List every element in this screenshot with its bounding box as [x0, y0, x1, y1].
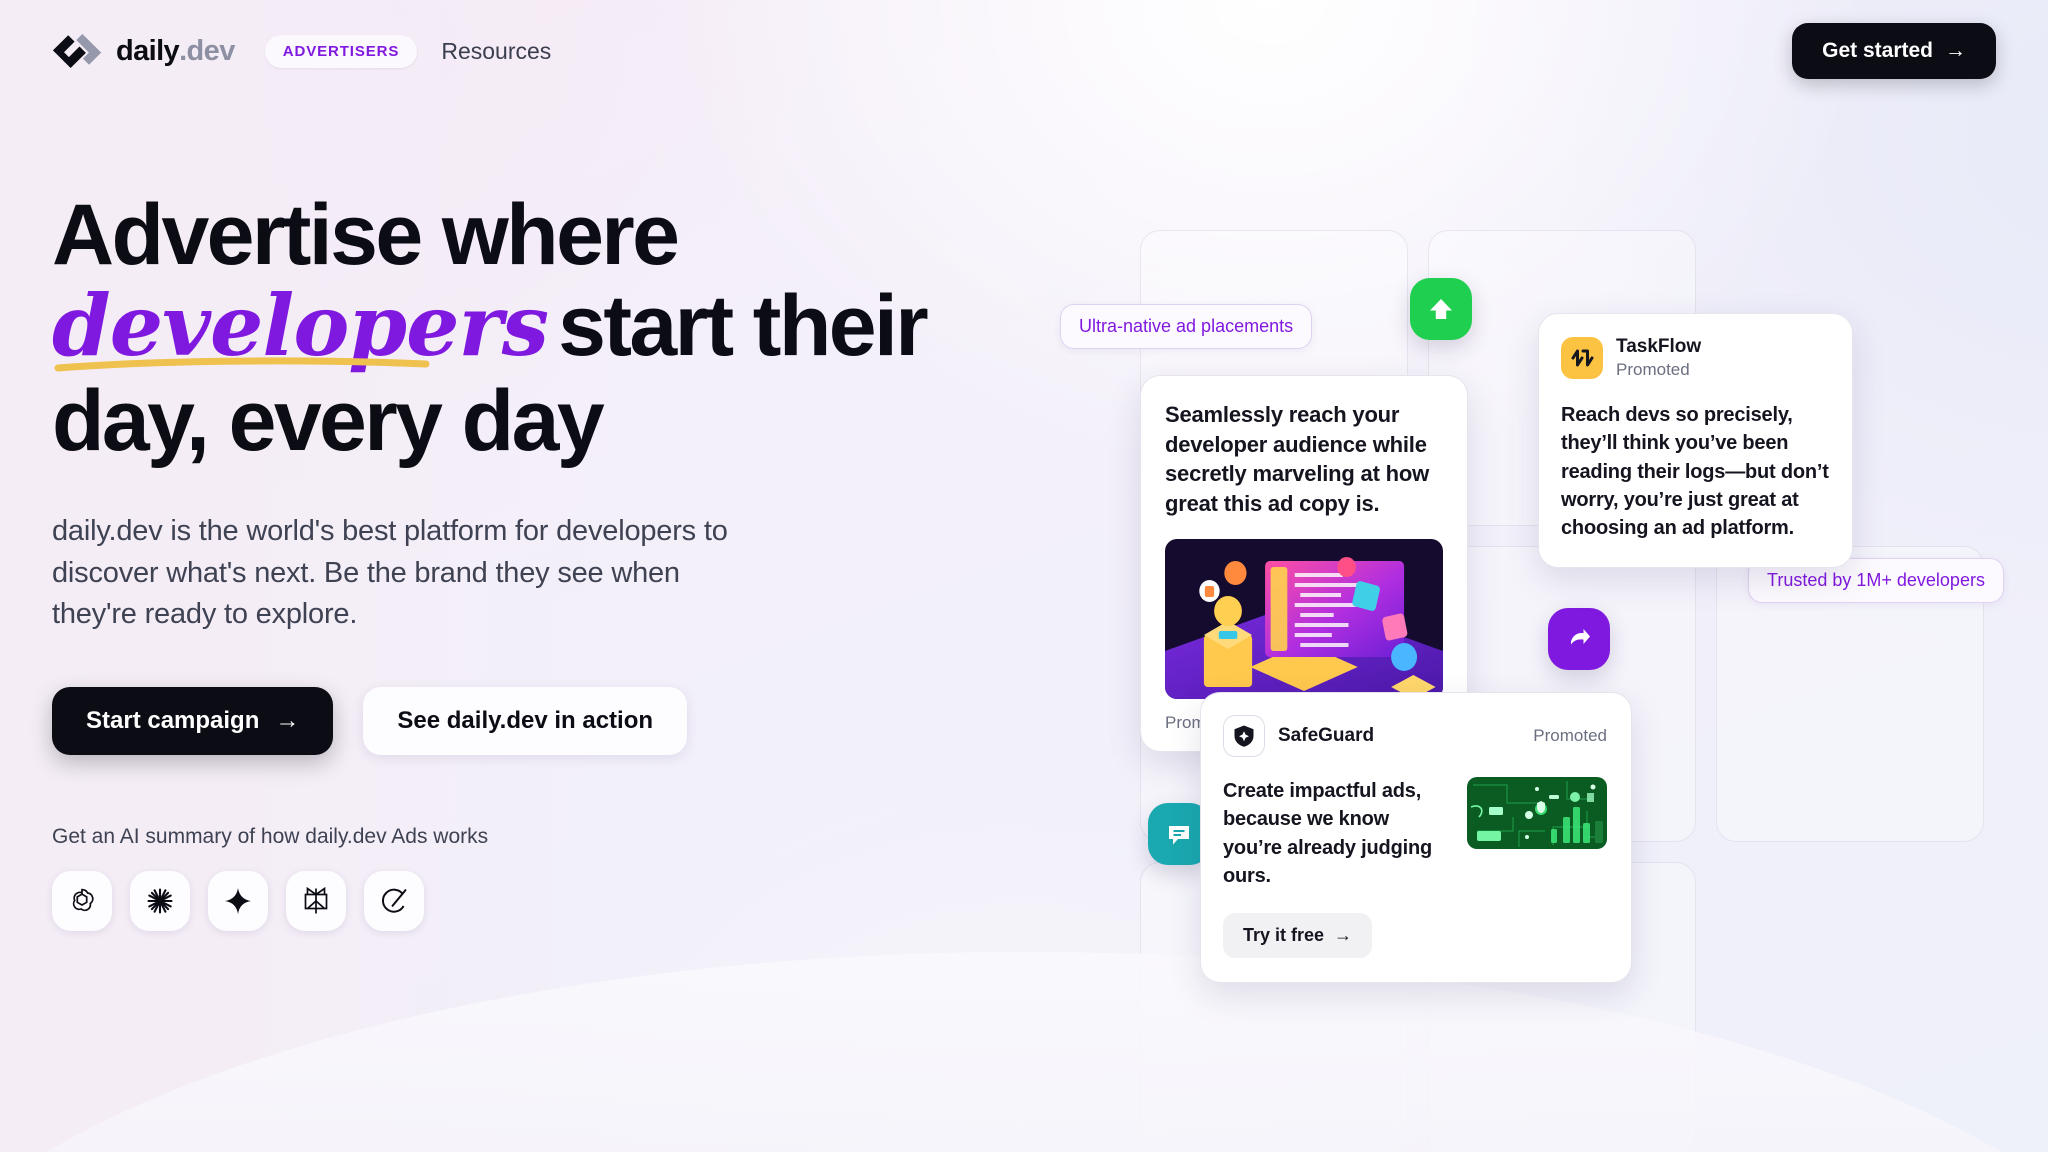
ad-card-headline: Reach devs so precisely, they’ll think y…: [1561, 401, 1830, 543]
hero-subheading: daily.dev is the world's best platform f…: [52, 511, 752, 635]
hero-section: Advertise where developersstart their da…: [52, 190, 952, 931]
ad-card-promoted-label: Promoted: [1533, 726, 1607, 746]
page-title: Advertise where developersstart their da…: [52, 190, 952, 467]
headline-line-2-rest: start their: [558, 278, 926, 374]
hero-cta-row: Start campaign → See daily.dev in action: [52, 687, 952, 755]
ad-card-brand-row: SafeGuard Promoted: [1223, 715, 1607, 757]
ad-showcase: Ultra-native ad placements Trusted by 1M…: [1040, 0, 2048, 1152]
get-started-label: Get started: [1822, 39, 1933, 63]
taskflow-pulse-icon: [1561, 337, 1603, 379]
see-in-action-button[interactable]: See daily.dev in action: [363, 687, 687, 755]
isometric-dev-workstation-illustration: [1165, 539, 1443, 699]
ai-icon-row: [52, 871, 952, 931]
arrow-right-circle-icon: [1562, 622, 1596, 656]
try-it-free-button[interactable]: Try it free →: [1223, 913, 1372, 958]
gemini-sparkle-icon: [222, 885, 254, 917]
openai-icon: [66, 885, 98, 917]
ai-chip-claude[interactable]: [130, 871, 190, 931]
brand-text: daily.dev: [116, 35, 235, 68]
ad-card-brand-name: TaskFlow: [1616, 336, 1701, 359]
perplexity-icon: [300, 885, 332, 917]
site-header: daily.dev ADVERTISERS Resources Get star…: [0, 0, 2048, 102]
start-campaign-button[interactable]: Start campaign →: [52, 687, 333, 755]
main-nav: ADVERTISERS Resources: [265, 32, 562, 71]
tag-ultra-native: Ultra-native ad placements: [1060, 304, 1312, 349]
pulse-glyph-icon: [1569, 345, 1595, 371]
ad-card-brand-name: SafeGuard: [1278, 725, 1374, 748]
ad-card-safeguard[interactable]: SafeGuard Promoted Create impactful ads,…: [1200, 692, 1632, 983]
arrow-right-icon: →: [1334, 925, 1352, 946]
daily-dev-chevron-logo-icon: [52, 34, 102, 68]
claude-icon: [144, 885, 176, 917]
nav-item-resources[interactable]: Resources: [431, 32, 561, 71]
brand-name: daily: [116, 35, 179, 67]
ai-chip-perplexity[interactable]: [286, 871, 346, 931]
green-circuit-board-illustration: [1467, 777, 1607, 849]
ad-card-promoted-label: Promoted: [1616, 359, 1701, 381]
upvote-arrow-badge[interactable]: [1410, 278, 1472, 340]
ai-summary-block: Get an AI summary of how daily.dev Ads w…: [52, 825, 952, 931]
safeguard-shield-icon: [1223, 715, 1265, 757]
ad-card-brand-meta: TaskFlow Promoted: [1616, 336, 1701, 381]
shield-glyph-icon: [1231, 723, 1257, 749]
headline-line-2: developersstart their: [52, 281, 952, 372]
up-arrow-icon: [1424, 292, 1458, 326]
ai-chip-grok[interactable]: [364, 871, 424, 931]
ad-card-brand-row: TaskFlow Promoted: [1561, 336, 1830, 381]
brand-logo[interactable]: daily.dev: [52, 34, 235, 68]
arrow-right-icon: →: [275, 707, 299, 735]
nav-item-advertisers[interactable]: ADVERTISERS: [265, 35, 418, 68]
grok-icon: [378, 885, 410, 917]
start-campaign-label: Start campaign: [86, 707, 259, 735]
ad-card-headline: Seamlessly reach your developer audience…: [1165, 400, 1443, 519]
ai-summary-label: Get an AI summary of how daily.dev Ads w…: [52, 825, 952, 849]
share-arrow-badge[interactable]: [1548, 608, 1610, 670]
ad-card-body: Create impactful ads, because we know yo…: [1223, 777, 1607, 891]
ai-chip-gemini[interactable]: [208, 871, 268, 931]
ad-card-taskflow[interactable]: TaskFlow Promoted Reach devs so precisel…: [1538, 313, 1853, 568]
arrow-right-icon: →: [1945, 39, 1966, 63]
get-started-button[interactable]: Get started →: [1792, 23, 1996, 79]
headline-line-3: day, every day: [52, 376, 952, 467]
headline-line-1: Advertise where: [52, 190, 952, 281]
ad-card-headline: Create impactful ads, because we know yo…: [1223, 777, 1449, 891]
try-it-free-label: Try it free: [1243, 925, 1324, 946]
brand-suffix: .dev: [179, 35, 235, 67]
ai-chip-openai[interactable]: [52, 871, 112, 931]
see-in-action-label: See daily.dev in action: [397, 707, 653, 735]
chat-bubble-icon: [1162, 817, 1196, 851]
